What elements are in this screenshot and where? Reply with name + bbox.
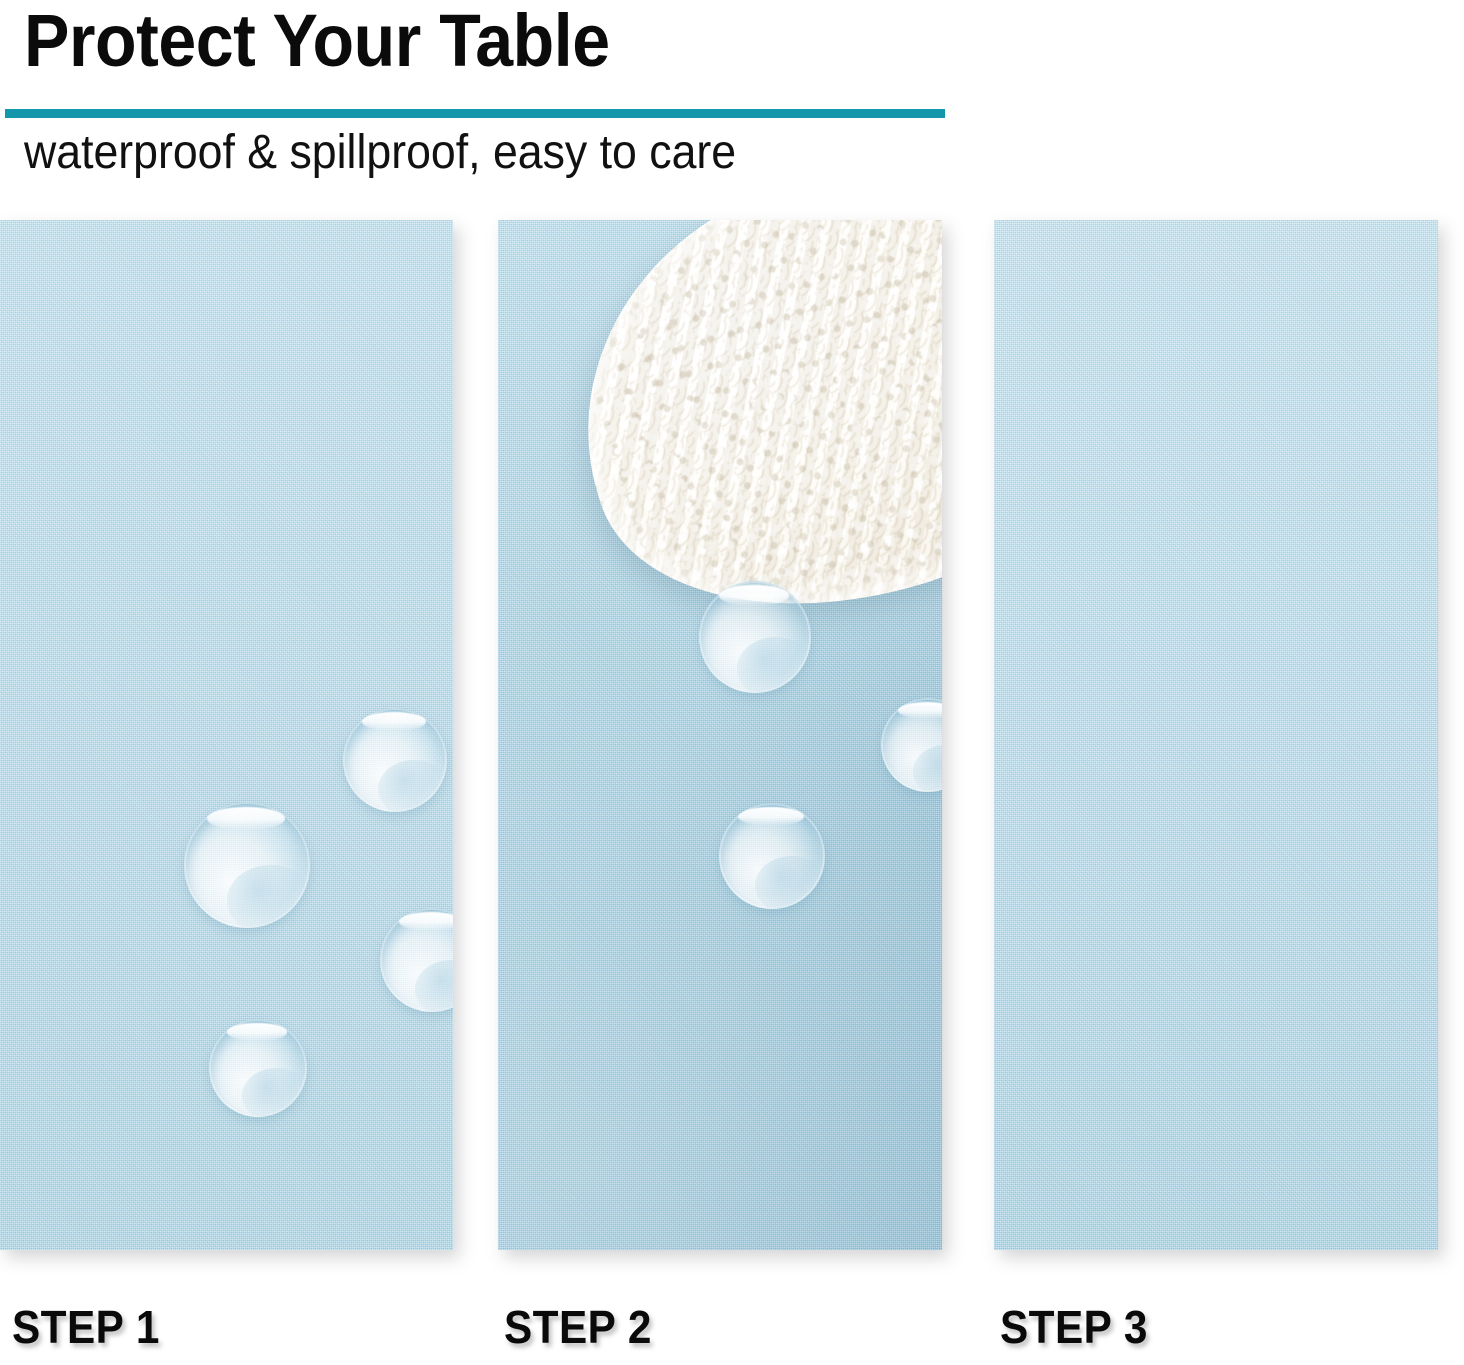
droplet-highlight [719,585,788,605]
step-1-label: STEP 1 [12,1302,160,1352]
droplet-shadow [755,856,825,909]
product-feature-card: Protect Your Table waterproof & spillpro… [0,0,1464,1365]
step-2-image [498,220,942,1250]
droplet-shadow [242,1068,307,1117]
droplet-shadow [737,637,811,693]
page-subtitle: waterproof & spillproof, easy to care [24,126,736,180]
water-droplet [719,803,825,909]
step-3-label: STEP 3 [1000,1302,1148,1352]
droplet-highlight [227,1023,288,1041]
step-2-label: STEP 2 [504,1302,652,1352]
droplet-highlight [399,912,453,931]
droplet-highlight [738,807,804,826]
water-droplet [343,708,447,812]
step-1-image [0,220,453,1250]
droplet-shadow [378,760,447,812]
waterproof-fabric-texture [994,220,1438,1250]
droplet-shadow [415,960,453,1012]
droplet-highlight [898,702,942,719]
water-droplet [184,802,310,928]
page-title: Protect Your Table [24,2,610,80]
droplet-shadow [913,745,942,792]
droplet-highlight [207,807,285,830]
water-droplet [209,1019,307,1117]
water-droplet [699,581,811,693]
title-divider [5,109,945,118]
droplet-highlight [362,712,426,731]
step-3-image [994,220,1438,1250]
droplet-shadow [227,865,310,928]
